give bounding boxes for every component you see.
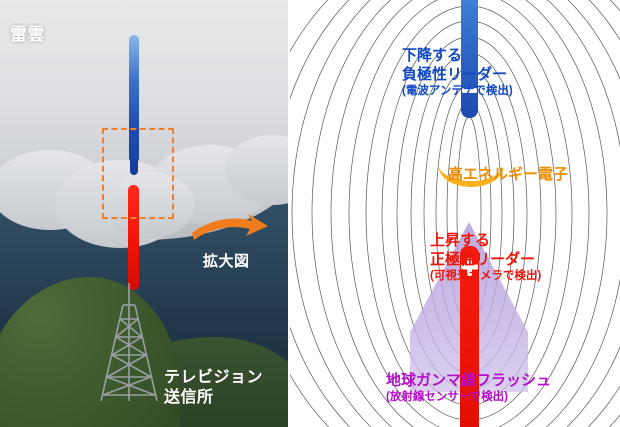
label-terrestrial-gamma-ray-flash: 地球ガンマ線フラッシュ (放射線センサーで検出) — [386, 371, 551, 405]
label-tgf-main: 地球ガンマ線フラッシュ — [386, 371, 551, 390]
label-descending-line2: 負極性リーダー — [402, 65, 513, 84]
zoom-region-box — [102, 128, 174, 219]
label-tv-transmitter: テレビジョン 送信所 — [164, 368, 263, 408]
label-thundercloud: 雷雲 — [10, 20, 45, 45]
label-ascending-line2: 正極性リーダー — [430, 250, 541, 269]
label-tv-line1: テレビジョン — [164, 368, 263, 388]
zoom-arrow-icon — [192, 214, 268, 244]
right-panel-zoomed-detail: 下降する 負極性リーダー (電波アンテナで検出) 高エネルギー電子 上昇する 正… — [290, 0, 620, 427]
diagram-canvas: 雷雲 拡大図 テレビジョン 送信所 — [0, 0, 620, 427]
label-tgf-note: (放射線センサーで検出) — [386, 390, 551, 405]
label-descending-negative-leader: 下降する 負極性リーダー (電波アンテナで検出) — [402, 46, 513, 99]
left-panel-thundercloud-scene: 雷雲 拡大図 テレビジョン 送信所 — [0, 0, 288, 427]
label-zoom-arrow: 拡大図 — [203, 250, 250, 271]
label-tv-line2: 送信所 — [164, 388, 263, 408]
tv-transmitter-tower-icon — [93, 283, 165, 401]
label-ascending-line1: 上昇する — [430, 231, 541, 250]
label-descending-note: (電波アンテナで検出) — [402, 84, 513, 99]
label-ascending-note: (可視光カメラで検出) — [430, 269, 541, 284]
label-descending-line1: 下降する — [402, 46, 513, 65]
label-high-energy-electrons: 高エネルギー電子 — [448, 165, 568, 184]
label-ascending-positive-leader: 上昇する 正極性リーダー (可視光カメラで検出) — [430, 231, 541, 284]
